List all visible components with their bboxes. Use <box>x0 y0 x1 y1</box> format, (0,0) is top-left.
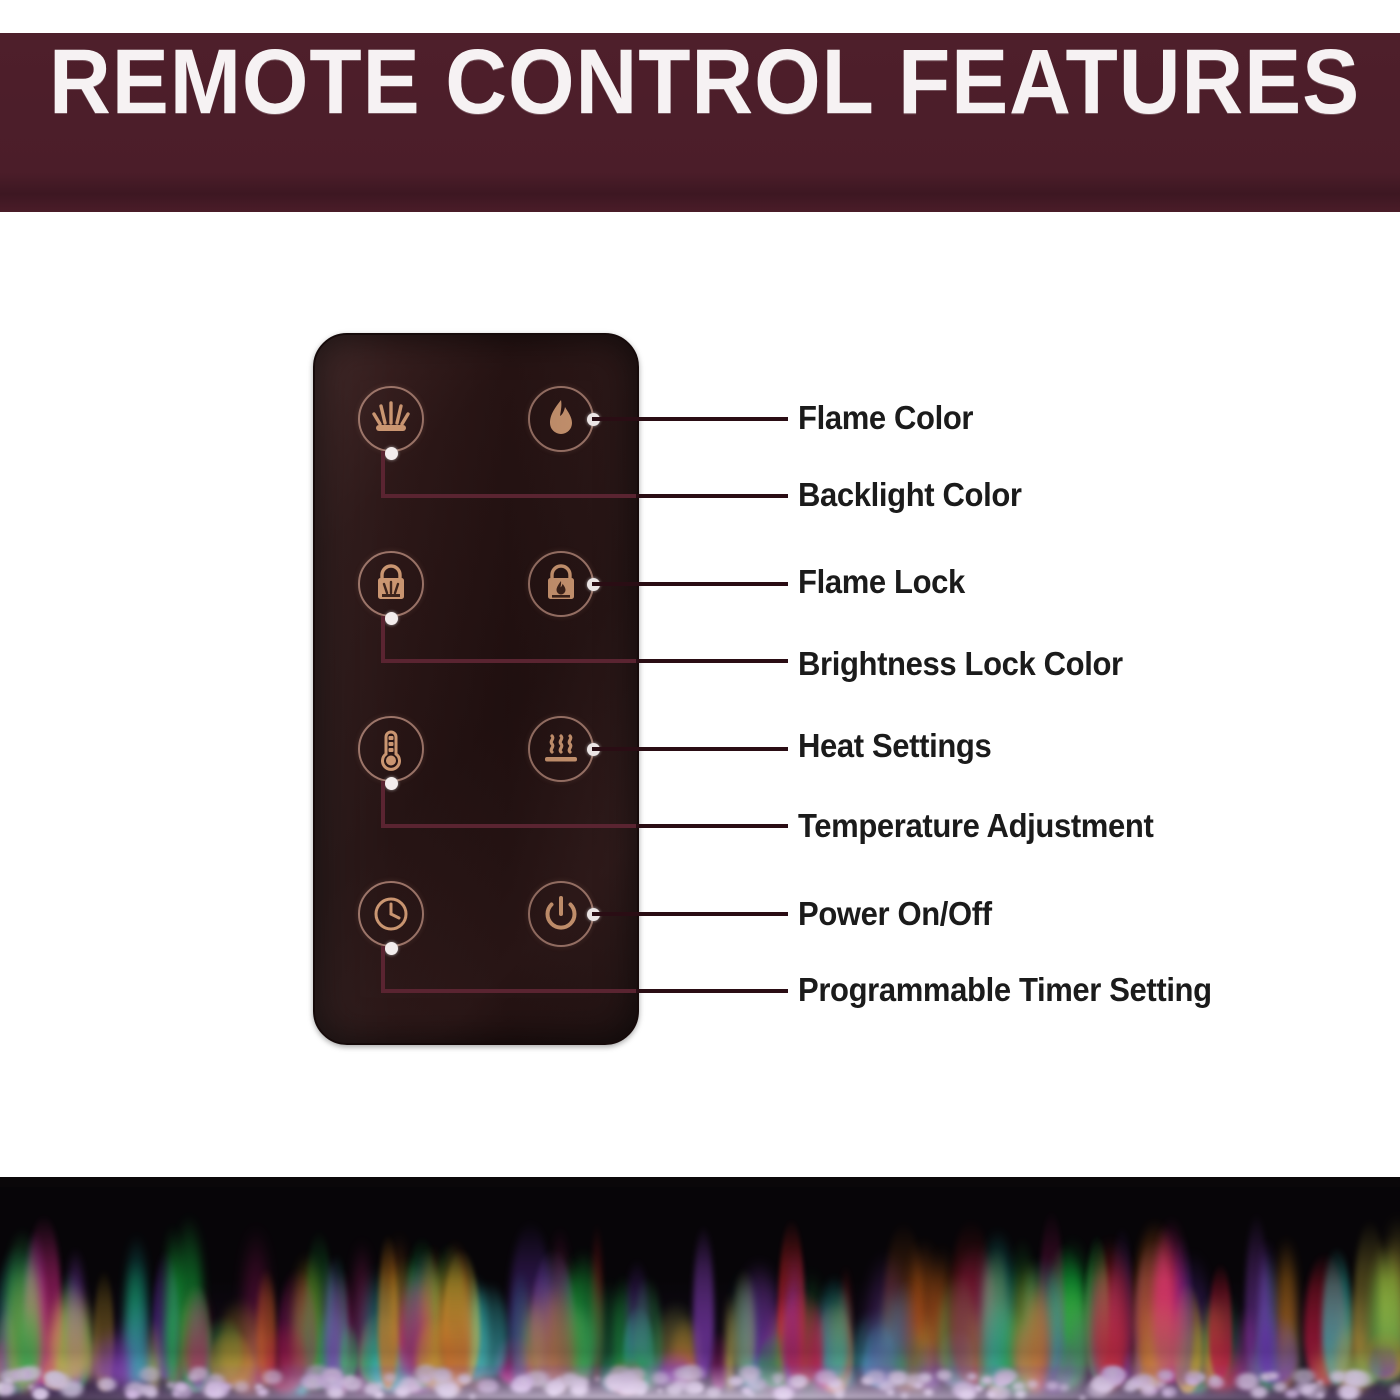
remote-control-body <box>313 333 639 1045</box>
brightness-lock-icon <box>369 561 413 607</box>
button-backlight-color[interactable] <box>358 386 424 452</box>
heat-waves-icon <box>538 727 584 771</box>
leader-line-temperature-adjustment-vertical <box>381 781 385 828</box>
leader-line-brightness-lock-color-inner <box>381 659 636 663</box>
leader-line-power-on-off <box>592 912 788 916</box>
electric-fireplace-flame-display <box>0 1177 1400 1400</box>
flame-lock-icon <box>539 561 583 607</box>
clock-icon <box>368 891 414 937</box>
leader-line-flame-color <box>592 417 788 421</box>
thermometer-icon <box>370 726 412 772</box>
leader-line-temperature-adjustment-inner <box>381 824 636 828</box>
callout-label-temperature-adjustment: Temperature Adjustment <box>798 808 1153 844</box>
leader-line-backlight-color <box>636 494 788 498</box>
leader-line-backlight-color-vertical <box>381 451 385 498</box>
power-icon <box>539 892 583 936</box>
button-flame-color[interactable] <box>528 386 594 452</box>
button-power-on-off[interactable] <box>528 881 594 947</box>
indicator-dot-programmable-timer-setting <box>385 942 398 955</box>
leader-line-flame-lock <box>592 582 788 586</box>
button-heat-settings[interactable] <box>528 716 594 782</box>
leader-line-heat-settings <box>592 747 788 751</box>
button-programmable-timer-setting[interactable] <box>358 881 424 947</box>
leader-line-programmable-timer-setting-inner <box>381 989 636 993</box>
callout-label-power-on-off: Power On/Off <box>798 896 992 932</box>
button-flame-lock[interactable] <box>528 551 594 617</box>
flame-panel-top-edge <box>0 1177 1400 1187</box>
ember-bed <box>0 1366 1400 1400</box>
callout-label-flame-lock: Flame Lock <box>798 564 965 600</box>
callout-label-programmable-timer-setting: Programmable Timer Setting <box>798 972 1212 1008</box>
leader-line-temperature-adjustment <box>636 824 788 828</box>
button-temperature-adjustment[interactable] <box>358 716 424 782</box>
page-title: REMOTE CONTROL FEATURES <box>49 34 1351 130</box>
callout-label-brightness-lock-color: Brightness Lock Color <box>798 646 1123 682</box>
remote-control-features-infographic: REMOTE CONTROL FEATURES <box>0 0 1400 1400</box>
leader-line-programmable-timer-setting-vertical <box>381 946 385 993</box>
indicator-dot-brightness-lock-color <box>385 612 398 625</box>
flame-icon <box>541 397 581 441</box>
leader-line-backlight-color-inner <box>381 494 636 498</box>
callout-label-flame-color: Flame Color <box>798 400 973 436</box>
callout-label-heat-settings: Heat Settings <box>798 728 991 764</box>
button-brightness-lock-color[interactable] <box>358 551 424 617</box>
indicator-dot-backlight-color <box>385 447 398 460</box>
leader-line-brightness-lock-color-vertical <box>381 616 385 663</box>
flame-tongue <box>1209 1263 1233 1379</box>
backlight-icon <box>368 396 414 442</box>
leader-line-brightness-lock-color <box>636 659 788 663</box>
flame-tongue <box>693 1225 715 1380</box>
callout-label-backlight-color: Backlight Color <box>798 477 1022 513</box>
indicator-dot-temperature-adjustment <box>385 777 398 790</box>
leader-line-programmable-timer-setting <box>636 989 788 993</box>
